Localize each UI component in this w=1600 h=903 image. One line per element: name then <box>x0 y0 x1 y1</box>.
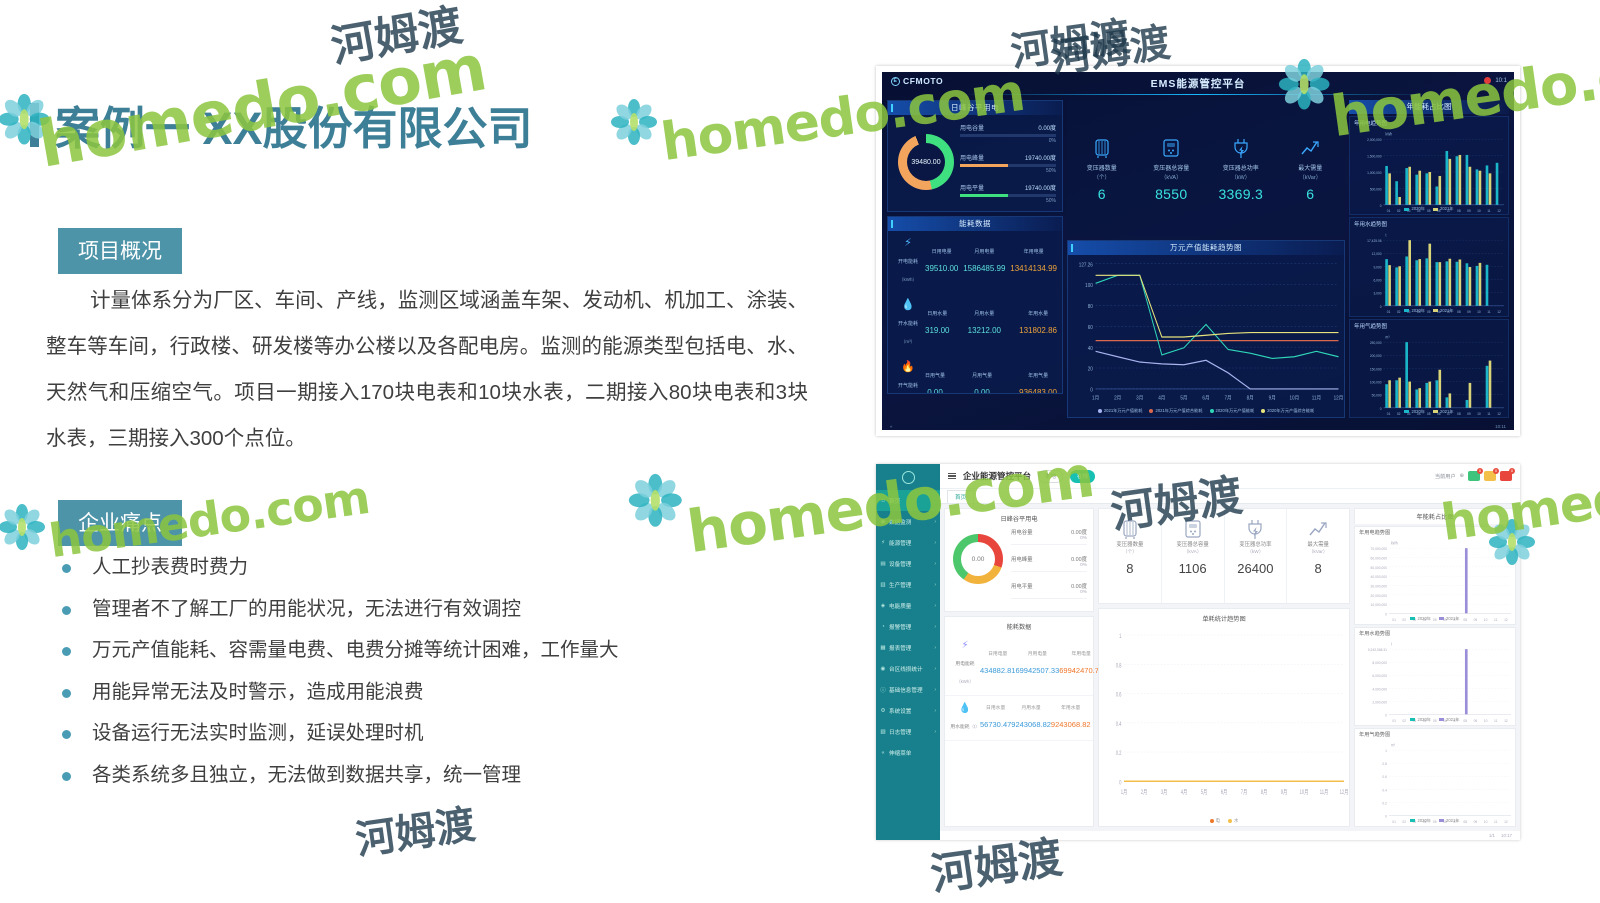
svg-text:7月: 7月 <box>1225 395 1232 401</box>
energy-cell: 日用电量39510.00 <box>925 248 958 276</box>
svg-text:7月: 7月 <box>1241 788 1247 796</box>
factory-icon: ▥ <box>880 582 886 588</box>
ems-dark-dashboard-screenshot: E CFMOTO EMS能源管控平台 10:1 日峰谷平用电 39480.00 … <box>876 66 1520 436</box>
pain-point-text: 万元产值能耗、容需量电费、电费分摊等统计困难，工作量大 <box>92 635 619 665</box>
pain-point-list: 人工抄表费时费力管理者不了解工厂的用能状况，无法进行有效调控万元产值能耗、容需量… <box>62 552 762 801</box>
svg-text:60,000,000: 60,000,000 <box>1371 556 1387 560</box>
kpi-label: 变压器总容量 <box>1162 540 1224 548</box>
kpi-value: 1106 <box>1162 561 1224 576</box>
energy-cell-value: 1586485.99 <box>963 264 1005 273</box>
energy-cell: 月用电量1586485.99 <box>963 248 1005 276</box>
sidebar-item-label: 日志管理 <box>889 728 911 736</box>
chevron-right-icon: › <box>934 687 936 693</box>
kpi-label: 变压器总功率 <box>1211 165 1271 173</box>
kpi-label: 变压器数量 <box>1099 540 1161 548</box>
sidebar-item-label: 首页 <box>889 497 900 505</box>
energy-cell: 日用水量56730.47 <box>980 704 1011 732</box>
dark-energy-rows: ⚡开电能耗（kWh）日用电量39510.00月用电量1586485.99年用电量… <box>888 231 1062 394</box>
dark-mini-chart-gas: 年用气趋势图 m³050,000100,000150,000200,000250… <box>1349 319 1509 418</box>
light-peak-valley-donut-chart: 0.00 <box>953 534 1003 584</box>
mode-pill-local[interactable]: 本地 <box>1038 470 1063 483</box>
energy-row-name: 开电能耗 <box>898 259 918 265</box>
sidebar-item-10[interactable]: ⚙系统设置› <box>876 700 940 721</box>
report-icon: ▦ <box>880 645 886 651</box>
peak-valley-row: 用电谷量0.00度0% <box>1011 528 1087 545</box>
energy-cell: 年用水量131802.86 <box>1019 310 1057 338</box>
mini-chart-title: 年用气趋势图 <box>1355 729 1515 738</box>
sidebar-item-label: 设备管理 <box>889 560 911 568</box>
alarm-green-icon[interactable]: 0 <box>1468 471 1480 481</box>
energy-row-name: 用电能耗 <box>955 662 974 667</box>
dark-footer-time: 10:11 <box>1495 424 1506 429</box>
mini-chart-legend: 2020年 2021年 <box>1355 818 1515 824</box>
capacity-icon <box>1162 518 1224 540</box>
legend-entry: 2020年万元产值综合能耗 <box>1261 408 1314 414</box>
energy-row-name: 开水能耗 <box>898 321 918 327</box>
kpi-value: 8 <box>1287 561 1349 576</box>
energy-row-unit: （t） <box>970 724 980 729</box>
svg-text:100: 100 <box>1085 283 1093 289</box>
kpi-unit: （kW） <box>1211 173 1271 181</box>
sidebar-item-3[interactable]: ▤设备管理› <box>876 553 940 574</box>
chevron-right-icon: › <box>934 519 936 525</box>
svg-text:8月: 8月 <box>1261 788 1267 796</box>
svg-text:9月: 9月 <box>1269 395 1276 401</box>
peak-valley-rows: 用电谷量0.00度0%用电峰量19740.00度50%用电平量19740.00度… <box>958 122 1056 204</box>
sidebar-item-label: 基础信息管理 <box>889 686 923 694</box>
tab-home[interactable]: 首页 <box>947 490 974 503</box>
energy-cell-value: 56730.47 <box>980 720 1011 729</box>
svg-text:127.26: 127.26 <box>1079 262 1093 268</box>
energy-cell: 月用电量69942507.33 <box>1015 650 1059 678</box>
chevron-right-icon: › <box>934 708 936 714</box>
kpi-card: 最大需量（kVar）8 <box>1287 509 1349 603</box>
bullet-dot-icon <box>62 606 71 615</box>
tab-bar: 首页 <box>940 489 1520 504</box>
dark-peak-valley-title: 日峰谷平用电 <box>888 101 1062 115</box>
mini-chart-legend: 2020年 2021年 <box>1350 206 1508 212</box>
sidebar-item-label: 系统设置 <box>889 707 911 715</box>
sidebar-item-label: 能源管理 <box>889 539 911 547</box>
energy-row: ⚡用电能耗（kWh）日用电量434882.81月用电量69942507.33年用… <box>945 633 1093 696</box>
svg-text:m³: m³ <box>1386 335 1391 339</box>
energy-cell-value: 13212.00 <box>968 326 1001 335</box>
pv-percent: 50% <box>960 198 1056 204</box>
dark-mini-chart-electricity: 年用电趋势图 kWh0500,0001,000,0001,500,0002,00… <box>1349 116 1509 215</box>
pv-label: 用电谷量 <box>1011 528 1033 536</box>
svg-text:0.4: 0.4 <box>1116 721 1122 728</box>
dark-right-title: 年能耗占比图 <box>1349 100 1509 114</box>
svg-text:0.2: 0.2 <box>1382 801 1387 805</box>
svg-text:5月: 5月 <box>1180 395 1187 401</box>
dark-kpi-strip: 变压器数量（个）6变压器总容量（kVA）8550变压器总功率（kW）3369.3… <box>1067 100 1345 236</box>
energy-cell-value: 319.00 <box>925 326 949 335</box>
pv-percent: 0% <box>1011 563 1087 568</box>
peak-valley-row: 用电峰量19740.00度50% <box>960 153 1056 174</box>
svg-text:0.6: 0.6 <box>1116 692 1122 699</box>
overview-paragraph: 计量体系分为厂区、车间、产线，监测区域涵盖车架、发动机、机加工、涂装、整车等车间… <box>46 278 808 462</box>
light-mini-chart-gas: 年用气趋势图 m³00.20.40.60.8101020304050607080… <box>1354 728 1516 827</box>
svg-text:m³: m³ <box>1391 743 1396 747</box>
collapse-icon: « <box>880 750 886 756</box>
chevron-right-icon: › <box>934 729 936 735</box>
section-header-overview: 项目概况 <box>58 228 182 274</box>
svg-text:1月: 1月 <box>1121 788 1127 796</box>
water-drop-icon: 💧开水能耗（m³） <box>893 299 923 348</box>
kpi-value: 8 <box>1099 561 1161 576</box>
energy-cell: 月用水量9243068.82 <box>1011 704 1051 732</box>
svg-text:t: t <box>1386 234 1388 238</box>
bullet-dot-icon <box>62 689 71 698</box>
pv-percent: 0% <box>1011 536 1087 541</box>
svg-text:6,000,000: 6,000,000 <box>1372 674 1387 678</box>
energy-row-unit: （m³） <box>901 339 915 344</box>
pv-label: 用电平量 <box>1011 582 1033 590</box>
svg-text:6月: 6月 <box>1202 395 1209 401</box>
svg-text:1,000,000: 1,000,000 <box>1367 171 1381 175</box>
energy-cell-value: 39510.00 <box>925 264 958 273</box>
energy-cell: 年用水量9243068.82 <box>1051 704 1091 732</box>
watermark-flower-icon <box>0 505 44 549</box>
energy-cell-header: 月用水量 <box>1011 704 1051 711</box>
dark-footer-left: « <box>890 424 893 429</box>
energy-row-unit: （kWh） <box>899 277 917 282</box>
kpi-unit: （kVar） <box>1280 173 1340 181</box>
svg-text:0.2: 0.2 <box>1116 750 1122 757</box>
sidebar-item-label: 报表管理 <box>889 644 911 652</box>
energy-cell: 年用电量69942470.76 <box>1059 650 1103 678</box>
plug-power-icon <box>1225 518 1287 540</box>
energy-cell-value: 9243068.82 <box>1011 720 1051 729</box>
dark-trend-title: 万元产值能耗趋势图 <box>1068 241 1344 255</box>
sidebar-item-9[interactable]: ⓘ基础信息管理› <box>876 679 940 700</box>
light-mini-chart-electricity: 年用电趋势图 kWh010,000,00020,000,00030,000,00… <box>1354 526 1516 625</box>
gas-flame-icon: 🔥开气能耗（m³） <box>893 361 923 394</box>
energy-cell-value: 0.00 <box>974 388 990 395</box>
demand-chart-icon <box>1287 518 1349 540</box>
kpi-label: 最大需量 <box>1287 540 1349 548</box>
bell-icon[interactable] <box>1484 77 1491 84</box>
energy-cell-header: 日用气量 <box>925 372 945 379</box>
energy-row: 💧开水能耗（m³）日用水量319.00月用水量13212.00年用水量13180… <box>893 299 1057 348</box>
mini-chart-title: 年用电趋势图 <box>1355 527 1515 536</box>
energy-cell-header: 日用水量 <box>980 704 1011 711</box>
water-drop-icon: 💧用水能耗（t） <box>950 703 980 733</box>
svg-text:10月: 10月 <box>1300 788 1309 796</box>
dark-trend-legend: 2021年万元产值能耗2021年万元产值综合能耗2020年万元产值能耗2020年… <box>1068 408 1344 414</box>
svg-text:4,000,000: 4,000,000 <box>1372 687 1387 691</box>
svg-text:0: 0 <box>1119 780 1121 787</box>
dark-trend-chart: 020406080100127.261月2月3月4月5月6月7月8月9月10月1… <box>1068 255 1344 417</box>
demand-chart-icon <box>1280 135 1340 161</box>
kpi-card: 变压器总功率（kW）3369.3 <box>1211 135 1271 202</box>
sidebar-item-8[interactable]: ◉台区线损统计› <box>876 658 940 679</box>
watermark-text: 河姆渡 <box>352 792 479 866</box>
svg-text:500,000: 500,000 <box>1370 187 1382 191</box>
sidebar-item-0[interactable]: ⌂首页 <box>876 490 940 511</box>
svg-text:t: t <box>1391 642 1393 646</box>
sidebar-item-4[interactable]: ▥生产管理› <box>876 574 940 595</box>
mail-yellow-icon[interactable]: 0 <box>1484 471 1496 481</box>
svg-text:11月: 11月 <box>1320 788 1328 796</box>
energy-cell-header: 年用水量 <box>1051 704 1091 711</box>
sidebar-item-label: 生产管理 <box>889 581 911 589</box>
light-peak-valley-title: 日峰谷平用电 <box>945 509 1093 525</box>
energy-cell-header: 日用电量 <box>925 248 958 255</box>
sidebar-item-12[interactable]: «伸缩菜单 <box>876 742 940 763</box>
kpi-card: 变压器总功率（kW）26400 <box>1225 509 1288 603</box>
svg-text:2,000,000: 2,000,000 <box>1367 138 1381 142</box>
svg-text:5月: 5月 <box>1201 788 1207 796</box>
energy-cell: 年用电量13414134.99 <box>1010 248 1057 276</box>
svg-text:0.6: 0.6 <box>1382 775 1387 779</box>
pv-value: 0.00度 <box>1071 555 1087 563</box>
legend-entry: 2020年万元产值能耗 <box>1210 408 1255 414</box>
pv-label: 用电平量 <box>960 183 984 192</box>
mini-chart-title: 年用电趋势图 <box>1350 117 1508 127</box>
alert-red-icon[interactable]: 0 <box>1500 471 1512 481</box>
peak-valley-row: 用电平量0.00度0% <box>1011 582 1087 599</box>
pv-percent: 50% <box>960 168 1056 174</box>
pv-label: 用电谷量 <box>960 123 984 132</box>
svg-text:50,000: 50,000 <box>1372 393 1382 397</box>
energy-cell-header: 月用电量 <box>963 248 1005 255</box>
svg-text:3,000: 3,000 <box>1373 292 1381 296</box>
svg-text:4月: 4月 <box>1181 788 1187 796</box>
chevron-right-icon: › <box>934 666 936 672</box>
energy-cell-header: 年用气量 <box>1019 372 1057 379</box>
light-energy-rows: ⚡用电能耗（kWh）日用电量434882.81月用电量69942507.33年用… <box>945 633 1093 741</box>
svg-text:30,000,000: 30,000,000 <box>1371 584 1387 588</box>
pv-value: 19740.00度 <box>1025 183 1056 192</box>
kpi-unit: （个） <box>1072 173 1132 181</box>
device-icon: ▤ <box>880 561 886 567</box>
svg-text:1: 1 <box>1119 634 1121 641</box>
kpi-unit: （个） <box>1099 548 1161 555</box>
dark-header-right[interactable]: 10:1 <box>1484 77 1507 84</box>
transformer-icon <box>1072 135 1132 161</box>
bullet-dot-icon <box>62 647 71 656</box>
dark-trend-panel: 万元产值能耗趋势图 020406080100127.261月2月3月4月5月6月… <box>1067 240 1345 418</box>
energy-cell-header: 年用电量 <box>1010 248 1057 255</box>
svg-text:2月: 2月 <box>1114 395 1121 401</box>
sidebar-item-7[interactable]: ▦报表管理› <box>876 637 940 658</box>
energy-cell-value: 9243068.82 <box>1051 720 1091 729</box>
kpi-card: 变压器总容量（kVA）8550 <box>1141 135 1201 202</box>
svg-text:20,000,000: 20,000,000 <box>1371 594 1387 598</box>
dark-dashboard-header: E CFMOTO EMS能源管控平台 10:1 <box>882 72 1514 96</box>
pv-progress-bar <box>960 164 1056 167</box>
svg-text:10,000,000: 10,000,000 <box>1371 603 1387 607</box>
light-right-title: 年能耗占比图 <box>1354 508 1516 524</box>
energy-cell: 日用气量0.00 <box>925 372 945 395</box>
energy-cell-value: 936483.00 <box>1019 388 1057 395</box>
kpi-card: 最大需量（kVar）6 <box>1280 135 1340 202</box>
watermark-flower-icon <box>612 100 656 144</box>
svg-text:9,243,068.31: 9,243,068.31 <box>1368 648 1387 652</box>
kpi-label: 变压器总功率 <box>1225 540 1287 548</box>
hamburger-icon[interactable] <box>948 473 956 479</box>
energy-cell-value: 13414134.99 <box>1010 264 1057 273</box>
legend-entry: 2021年万元产值能耗 <box>1098 408 1143 414</box>
svg-text:9月: 9月 <box>1281 788 1287 796</box>
svg-text:50,000,000: 50,000,000 <box>1371 565 1387 569</box>
pv-label: 用电峰量 <box>960 153 984 162</box>
energy-row-name: 开气能耗 <box>898 383 918 389</box>
quality-icon: ◈ <box>880 603 886 609</box>
svg-text:12月: 12月 <box>1340 788 1349 796</box>
svg-text:1: 1 <box>1385 749 1387 753</box>
energy-cell-header: 年用电量 <box>1059 650 1103 657</box>
chevron-right-icon: › <box>934 603 936 609</box>
svg-text:1,500,000: 1,500,000 <box>1367 154 1381 158</box>
kpi-unit: （kVA） <box>1141 173 1201 181</box>
sidebar-item-label: 电能质量 <box>889 602 911 610</box>
peak-valley-row: 用电谷量0.00度0% <box>960 123 1056 144</box>
info-icon: ⓘ <box>880 686 886 694</box>
gear-icon: ⚙ <box>880 708 886 714</box>
svg-text:17,425.06: 17,425.06 <box>1367 239 1381 243</box>
sidebar-items: ⌂首页▣数据监测›⚡能源管理›▤设备管理›▥生产管理›◈电能质量›◔报警管理›▦… <box>876 490 940 763</box>
energy-row-unit: （kWh） <box>956 679 974 684</box>
light-app-title: 企业能源管控平台 <box>963 470 1031 482</box>
kpi-label: 最大需量 <box>1280 165 1340 173</box>
bullet-dot-icon <box>62 730 71 739</box>
mini-chart-title: 年用水趋势图 <box>1350 218 1508 228</box>
mini-chart-legend: 2020年 2021年 <box>1355 717 1515 723</box>
svg-text:100,000: 100,000 <box>1370 380 1382 384</box>
sidebar-item-6[interactable]: ◔报警管理› <box>876 616 940 637</box>
energy-cell-header: 月用电量 <box>1015 650 1059 657</box>
svg-text:6,000: 6,000 <box>1373 279 1381 283</box>
sidebar-item-2[interactable]: ⚡能源管理› <box>876 532 940 553</box>
mode-pill-online[interactable]: 在线 <box>1070 470 1095 483</box>
energy-cell-value: 434882.81 <box>980 666 1015 675</box>
svg-text:10月: 10月 <box>1289 395 1299 401</box>
svg-text:kWh: kWh <box>1391 541 1398 545</box>
donut-center-value: 39480.00 <box>911 159 940 166</box>
energy-cell-header: 年用水量 <box>1019 310 1057 317</box>
dark-header-time: 10:1 <box>1495 78 1507 84</box>
energy-icon: ⚡ <box>880 540 886 546</box>
svg-text:3月: 3月 <box>1136 395 1143 401</box>
sidebar-item-1[interactable]: ▣数据监测› <box>876 511 940 532</box>
dark-peak-valley-panel: 日峰谷平用电 39480.00 用电谷量0.00度0%用电峰量19740.00度… <box>887 100 1063 212</box>
kpi-unit: （kVar） <box>1287 548 1349 555</box>
bolt-icon: ⚡开电能耗（kWh） <box>893 237 923 286</box>
list-item: 设备运行无法实时监测，延误处理时机 <box>62 718 762 760</box>
energy-cell-value: 0.00 <box>927 388 943 395</box>
page-title-text: 案例一 XX股份有限公司 <box>55 92 533 157</box>
kpi-value: 3369.3 <box>1211 186 1271 202</box>
pain-point-text: 管理者不了解工厂的用能状况，无法进行有效调控 <box>92 594 521 624</box>
svg-text:0.4: 0.4 <box>1382 788 1387 792</box>
legend-entry: 2021年万元产值综合能耗 <box>1149 408 1202 414</box>
globe-icon[interactable]: ⊕ <box>1460 473 1464 479</box>
pv-value: 0.00度 <box>1071 528 1087 536</box>
mini-chart-title: 年用水趋势图 <box>1355 628 1515 637</box>
alarm-icon: ◔ <box>880 624 886 630</box>
pain-point-text: 各类系统多且独立，无法做到数据共享，统一管理 <box>92 760 521 790</box>
dark-footer: « 10:11 <box>882 422 1514 430</box>
chevron-right-icon: › <box>934 645 936 651</box>
pv-value: 0.00度 <box>1038 123 1056 132</box>
kpi-card: 变压器数量（个）6 <box>1072 135 1132 202</box>
pain-point-text: 设备运行无法实时监测，延误处理时机 <box>92 718 424 748</box>
energy-cell-header: 月用气量 <box>972 372 992 379</box>
peak-valley-donut-chart: 39480.00 <box>898 134 954 190</box>
svg-text:8月: 8月 <box>1247 395 1254 401</box>
dark-energy-title: 能耗数据 <box>888 217 1062 231</box>
energy-cell: 年用气量936483.00 <box>1019 372 1057 395</box>
svg-text:200,000: 200,000 <box>1370 354 1382 358</box>
energy-cell-value: 131802.86 <box>1019 326 1057 335</box>
svg-text:150,000: 150,000 <box>1370 367 1382 371</box>
svg-text:0.8: 0.8 <box>1382 762 1387 766</box>
light-footer: 1/1 10:17 <box>940 831 1520 840</box>
energy-row: 🔥开气能耗（m³）日用气量0.00月用气量0.00年用气量936483.00 <box>893 361 1057 394</box>
monitor-icon: ▣ <box>880 519 886 525</box>
energy-cell-value: 69942507.33 <box>1015 666 1059 675</box>
kpi-value: 26400 <box>1225 561 1287 576</box>
list-item: 管理者不了解工厂的用能状况，无法进行有效调控 <box>62 594 762 636</box>
pv-progress-bar <box>960 134 1056 137</box>
svg-text:70,000,000: 70,000,000 <box>1371 547 1387 551</box>
title-accent-bar <box>30 103 39 147</box>
svg-text:6月: 6月 <box>1221 788 1227 796</box>
pv-percent: 0% <box>1011 590 1087 595</box>
energy-row-name: 用水能耗 <box>950 725 969 730</box>
ems-light-dashboard-screenshot: ⌂首页▣数据监测›⚡能源管理›▤设备管理›▥生产管理›◈电能质量›◔报警管理›▦… <box>876 464 1520 840</box>
svg-text:9,000: 9,000 <box>1373 265 1381 269</box>
section-header-pain-points: 企业痛点 <box>58 500 182 546</box>
pv-value: 0.00度 <box>1071 582 1087 590</box>
list-item: 用能异常无法及时警示，造成用能浪费 <box>62 677 762 719</box>
svg-text:12,000: 12,000 <box>1372 252 1382 256</box>
pv-percent: 0% <box>960 138 1056 144</box>
mini-chart-legend: 2020年 2021年 <box>1350 308 1508 314</box>
chevron-right-icon: › <box>934 540 936 546</box>
ring-logo-icon <box>876 464 940 490</box>
energy-cell: 月用气量0.00 <box>972 372 992 395</box>
pv-label: 用电峰量 <box>1011 555 1033 563</box>
donut-center-value: 0.00 <box>972 556 985 563</box>
svg-text:250,000: 250,000 <box>1370 340 1382 344</box>
svg-text:80: 80 <box>1088 304 1093 310</box>
bullet-dot-icon <box>62 564 71 573</box>
svg-text:40: 40 <box>1088 346 1093 352</box>
sidebar-item-label: 台区线损统计 <box>889 665 923 673</box>
svg-text:0: 0 <box>1090 387 1093 393</box>
energy-cell-header: 月用水量 <box>968 310 1001 317</box>
svg-text:0.8: 0.8 <box>1116 663 1122 670</box>
loss-icon: ◉ <box>880 666 886 672</box>
list-item: 各类系统多且独立，无法做到数据共享，统一管理 <box>62 760 762 802</box>
svg-text:20: 20 <box>1088 366 1093 372</box>
bullet-dot-icon <box>62 772 71 781</box>
svg-text:3月: 3月 <box>1161 788 1167 796</box>
home-icon: ⌂ <box>880 498 886 504</box>
pain-point-text: 人工抄表费时费力 <box>92 552 248 582</box>
chevron-right-icon: › <box>934 624 936 630</box>
svg-text:kWh: kWh <box>1386 132 1393 136</box>
light-energy-data-card: 能耗数据 ⚡用电能耗（kWh）日用电量434882.81月用电量69942507… <box>944 616 1094 827</box>
sidebar-item-5[interactable]: ◈电能质量› <box>876 595 940 616</box>
footer-page: 1/1 <box>1489 833 1495 838</box>
list-item: 人工抄表费时费力 <box>62 552 762 594</box>
pv-progress-bar <box>960 194 1056 197</box>
sidebar-item-11[interactable]: ▧日志管理› <box>876 721 940 742</box>
